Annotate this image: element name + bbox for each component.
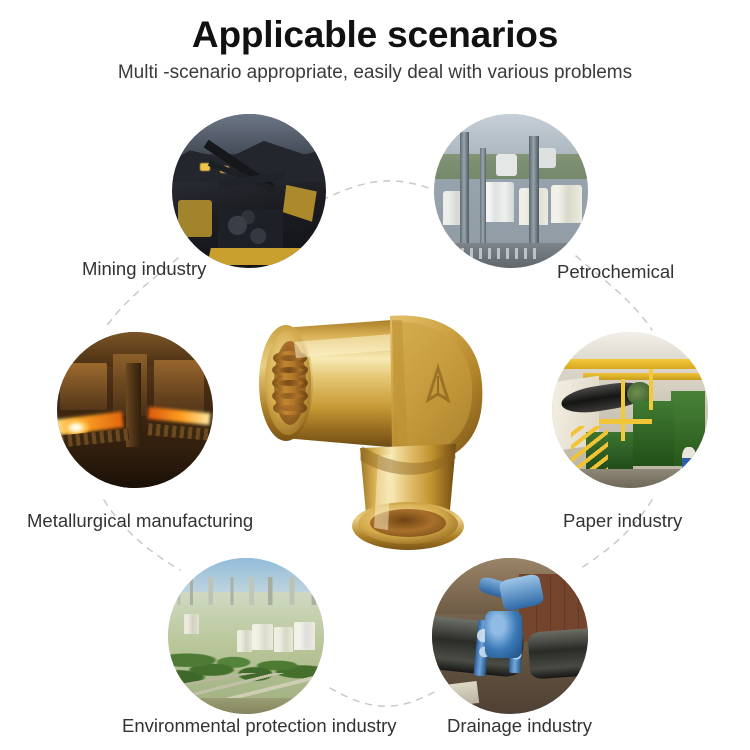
scenario-label-environmental: Environmental protection industry	[122, 715, 397, 737]
arc-environmental-drainage	[330, 688, 438, 706]
product-image-brass-elbow	[242, 298, 514, 550]
scenario-label-petrochemical: Petrochemical	[557, 261, 674, 283]
scenario-circle-metallurgical[interactable]	[57, 332, 213, 488]
petrochemical-plant-photo	[434, 114, 588, 268]
scenario-circle-environmental[interactable]	[168, 558, 324, 714]
drainage-valve-photo	[432, 558, 588, 714]
arc-mining-petrochemical	[322, 181, 440, 200]
scenario-circle-drainage[interactable]	[432, 558, 588, 714]
scenario-label-mining: Mining industry	[82, 258, 206, 280]
scenario-circle-paper[interactable]	[552, 332, 708, 488]
scenario-circle-petrochemical[interactable]	[434, 114, 588, 268]
steel-mill-photo	[57, 332, 213, 488]
scenario-label-drainage: Drainage industry	[447, 715, 592, 737]
scenario-label-paper: Paper industry	[563, 510, 682, 532]
scenario-label-metallurgical: Metallurgical manufacturing	[27, 510, 253, 532]
infographic-canvas: Applicable scenarios Multi -scenario app…	[0, 0, 750, 750]
scenario-circle-mining[interactable]	[172, 114, 326, 268]
paper-mill-photo	[552, 332, 708, 488]
mining-industry-photo	[172, 114, 326, 268]
environmental-plant-photo	[168, 558, 324, 714]
